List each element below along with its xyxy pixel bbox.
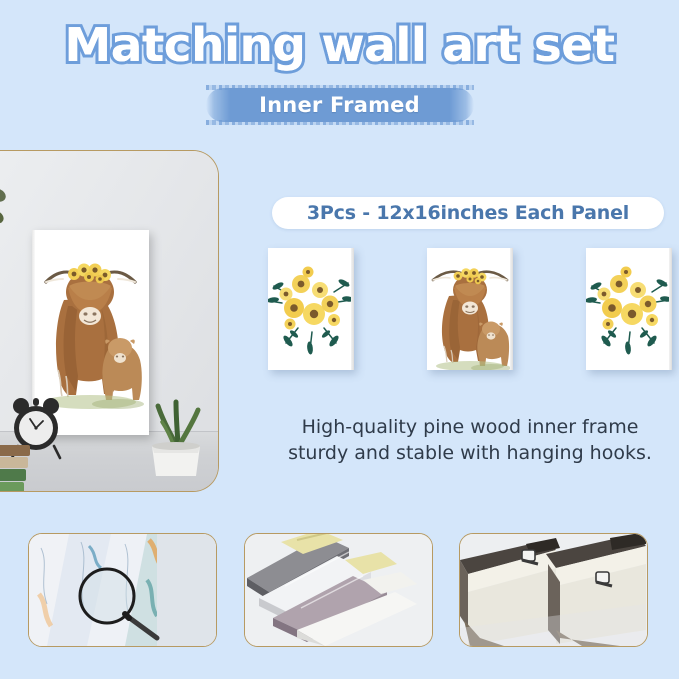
header: Matching wall art set Matching wall art …: [0, 0, 679, 140]
thumb-stacked-framed-panels: [244, 533, 433, 647]
sunflower-bouquet-illustration: [268, 248, 354, 370]
page-title-outline: Matching wall art set: [0, 18, 679, 72]
feature-description: High-quality pine wood inner frame sturd…: [270, 414, 670, 466]
canvas-edge: [669, 248, 672, 370]
inner-framed-badge: Inner Framed: [206, 88, 474, 122]
highland-cow-illustration: [427, 248, 513, 370]
canvas-roll-magnifier-illustration: [29, 534, 216, 646]
lifestyle-room-photo: [0, 150, 219, 492]
panel-sunflower-left: [268, 248, 354, 370]
eucalyptus-sprig-icon: [0, 306, 14, 366]
thumb-back-frame-hooks: [459, 533, 648, 647]
thumb-canvas-texture-magnifier: [28, 533, 217, 647]
stacked-books-icon: [0, 441, 34, 492]
feature-description-line1: High-quality pine wood inner frame: [270, 414, 670, 440]
detail-thumbnail-row: [28, 533, 648, 645]
inner-framed-label: Inner Framed: [206, 88, 474, 122]
panel-sunflower-right: [586, 248, 672, 370]
sunflower-bouquet-illustration: [586, 248, 672, 370]
size-spec-label: 3Pcs - 12x16inches Each Panel: [307, 202, 629, 224]
infographic-root: Matching wall art set Matching wall art …: [0, 0, 679, 679]
feature-description-line2: sturdy and stable with hanging hooks.: [270, 440, 670, 466]
canvas-edge: [351, 248, 354, 370]
frame-back-hooks-illustration: [460, 534, 647, 646]
eucalyptus-plant-icon: [0, 173, 30, 283]
size-spec-pill: 3Pcs - 12x16inches Each Panel: [272, 197, 664, 229]
snake-plant-icon: [146, 396, 206, 478]
panel-set: [268, 248, 672, 396]
stacked-panels-illustration: [245, 534, 432, 646]
panel-highland-cow-center: [427, 248, 513, 370]
canvas-edge: [510, 248, 513, 370]
